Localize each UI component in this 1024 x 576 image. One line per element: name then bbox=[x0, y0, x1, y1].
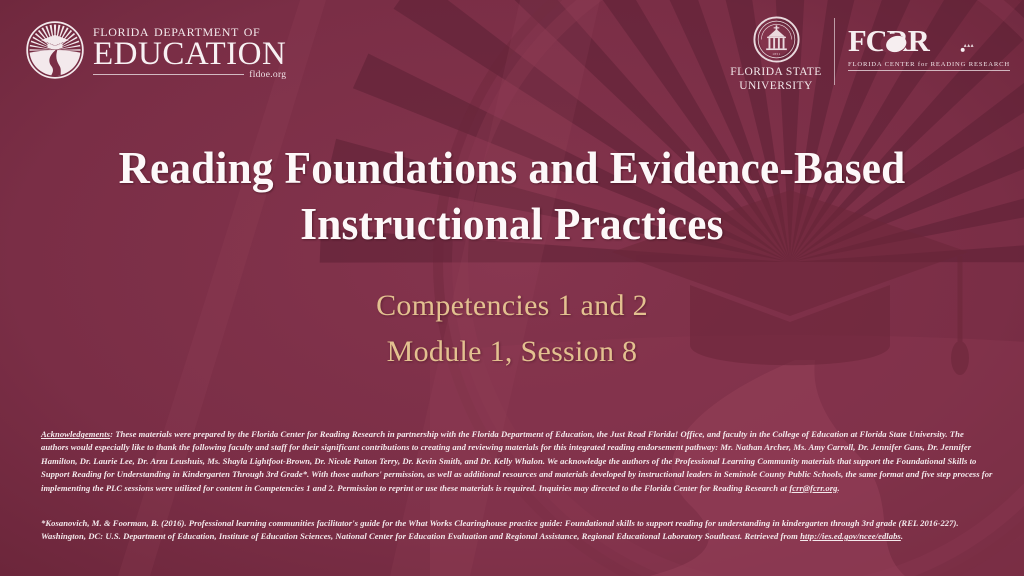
footnote-body-end: . bbox=[901, 531, 903, 541]
acknowledgements-body-end: . bbox=[837, 483, 839, 493]
logo-divider bbox=[834, 18, 835, 85]
fcrr-underline bbox=[848, 70, 1010, 71]
subtitle-competencies: Competencies 1 and 2 bbox=[0, 283, 1024, 329]
title-slide: Florida Department of EDUCATION fldoe.or… bbox=[0, 0, 1024, 576]
fcrr-email-link[interactable]: fcrr@fcrr.org bbox=[789, 483, 837, 493]
florida-doe-seal-icon bbox=[26, 21, 84, 79]
title-block: Reading Foundations and Evidence-Based I… bbox=[62, 140, 962, 252]
fldoe-logo: Florida Department of EDUCATION fldoe.or… bbox=[26, 20, 286, 80]
fldoe-line-2: EDUCATION bbox=[93, 38, 286, 72]
partner-logos: 1851 FLORIDA STATE UNIVERSITY FCRR FLORI… bbox=[728, 16, 1010, 93]
acknowledgements-label: Acknowledgements bbox=[41, 429, 110, 439]
divider bbox=[93, 74, 244, 75]
fcrr-logo: FCRR FLORIDA CENTER for READING RESEARCH bbox=[835, 16, 1010, 71]
fsu-wordmark: FLORIDA STATE UNIVERSITY bbox=[730, 66, 822, 93]
fcrr-wordmark-icon: FCRR bbox=[848, 20, 976, 64]
acknowledgements-body: : These materials were prepared by the F… bbox=[41, 429, 992, 493]
subtitle-block: Competencies 1 and 2 Module 1, Session 8 bbox=[0, 283, 1024, 374]
fldoe-wordmark: Florida Department of EDUCATION fldoe.or… bbox=[93, 20, 286, 80]
footnote-paragraph: *Kosanovich, M. & Foorman, B. (2016). Pr… bbox=[41, 517, 993, 544]
page-title: Reading Foundations and Evidence-Based I… bbox=[89, 140, 935, 252]
fsu-seal-icon: 1851 bbox=[753, 16, 800, 63]
fsu-logo: 1851 FLORIDA STATE UNIVERSITY bbox=[728, 16, 834, 93]
edlabs-url-link[interactable]: http://ies.ed.gov/ncee/edlabs bbox=[800, 531, 901, 541]
fcrr-tagline: FLORIDA CENTER for READING RESEARCH bbox=[848, 61, 1010, 68]
acknowledgements-paragraph: Acknowledgements: These materials were p… bbox=[41, 428, 993, 495]
subtitle-module-session: Module 1, Session 8 bbox=[0, 329, 1024, 375]
fldoe-url: fldoe.org bbox=[249, 70, 286, 80]
svg-text:1851: 1851 bbox=[772, 52, 780, 56]
